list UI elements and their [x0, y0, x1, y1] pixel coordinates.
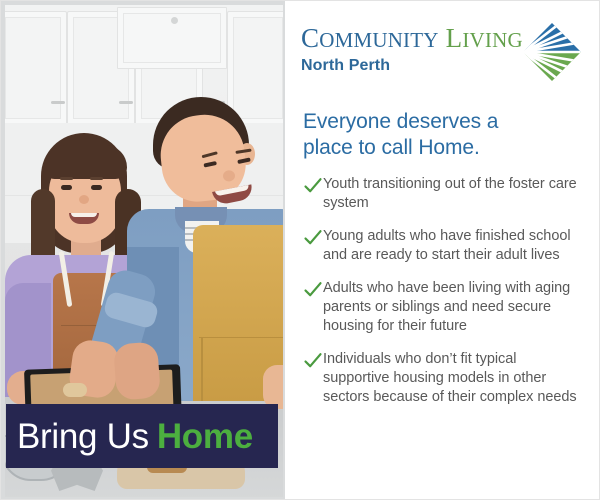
- nose: [222, 170, 235, 182]
- brand-word-community: COMMUNITY: [301, 23, 439, 53]
- cabinet-icon: [5, 11, 67, 125]
- brand-subtitle: North Perth: [301, 56, 523, 76]
- list-item: Individuals who don’t fit typical suppor…: [303, 350, 585, 407]
- hand: [263, 365, 283, 409]
- dough-piece: [63, 383, 87, 397]
- headline-line-2: place to call Home.: [303, 136, 480, 159]
- eyebrow: [90, 177, 103, 180]
- eye: [203, 161, 217, 168]
- check-icon: [303, 280, 323, 300]
- mouth: [212, 184, 254, 205]
- list-item-label: Adults who have been living with aging p…: [323, 279, 585, 336]
- brand-name-line: COMMUNITYLIVING: [301, 23, 523, 55]
- eyebrow: [60, 177, 73, 180]
- hand: [113, 342, 161, 401]
- list-item: Adults who have been living with aging p…: [303, 279, 585, 336]
- banner-word-white: Bring Us: [17, 417, 149, 456]
- banner-word-green: Home: [149, 417, 253, 456]
- brand-logo: COMMUNITYLIVING North Perth: [299, 23, 585, 95]
- check-icon: [303, 228, 323, 248]
- eyebrow: [202, 151, 218, 158]
- check-icon: [303, 351, 323, 371]
- bullet-list: Youth transitioning out of the foster ca…: [303, 175, 585, 407]
- banner-text: Bring UsHome: [6, 419, 253, 454]
- eye: [91, 185, 102, 190]
- bring-us-home-banner: Bring UsHome: [6, 404, 278, 468]
- list-item-label: Young adults who have finished school an…: [323, 227, 585, 265]
- brand-wordmark: COMMUNITYLIVING North Perth: [301, 23, 523, 76]
- brand-word-living: LIVING: [439, 23, 523, 53]
- photo-panel: Bring UsHome: [1, 1, 285, 500]
- hair-fringe: [43, 145, 127, 179]
- check-icon: [303, 176, 323, 196]
- hood-knob-icon: [171, 17, 178, 24]
- list-item: Young adults who have finished school an…: [303, 227, 585, 265]
- list-item: Youth transitioning out of the foster ca…: [303, 175, 585, 213]
- content-panel: COMMUNITYLIVING North Perth: [285, 1, 600, 500]
- nose: [79, 195, 89, 204]
- headline-line-1: Everyone deserves a: [303, 110, 498, 133]
- eye: [61, 185, 72, 190]
- promo-card: Bring UsHome COMMUNITYLIVING North Perth: [0, 0, 600, 500]
- apron-fold: [201, 337, 203, 401]
- range-hood-icon: [117, 7, 227, 69]
- diamond-rays-logo-icon: [521, 21, 583, 83]
- page-headline: Everyone deserves a place to call Home.: [303, 109, 585, 161]
- list-item-label: Individuals who don’t fit typical suppor…: [323, 350, 585, 407]
- cabinet-handle-icon: [51, 101, 65, 104]
- list-item-label: Youth transitioning out of the foster ca…: [323, 175, 585, 213]
